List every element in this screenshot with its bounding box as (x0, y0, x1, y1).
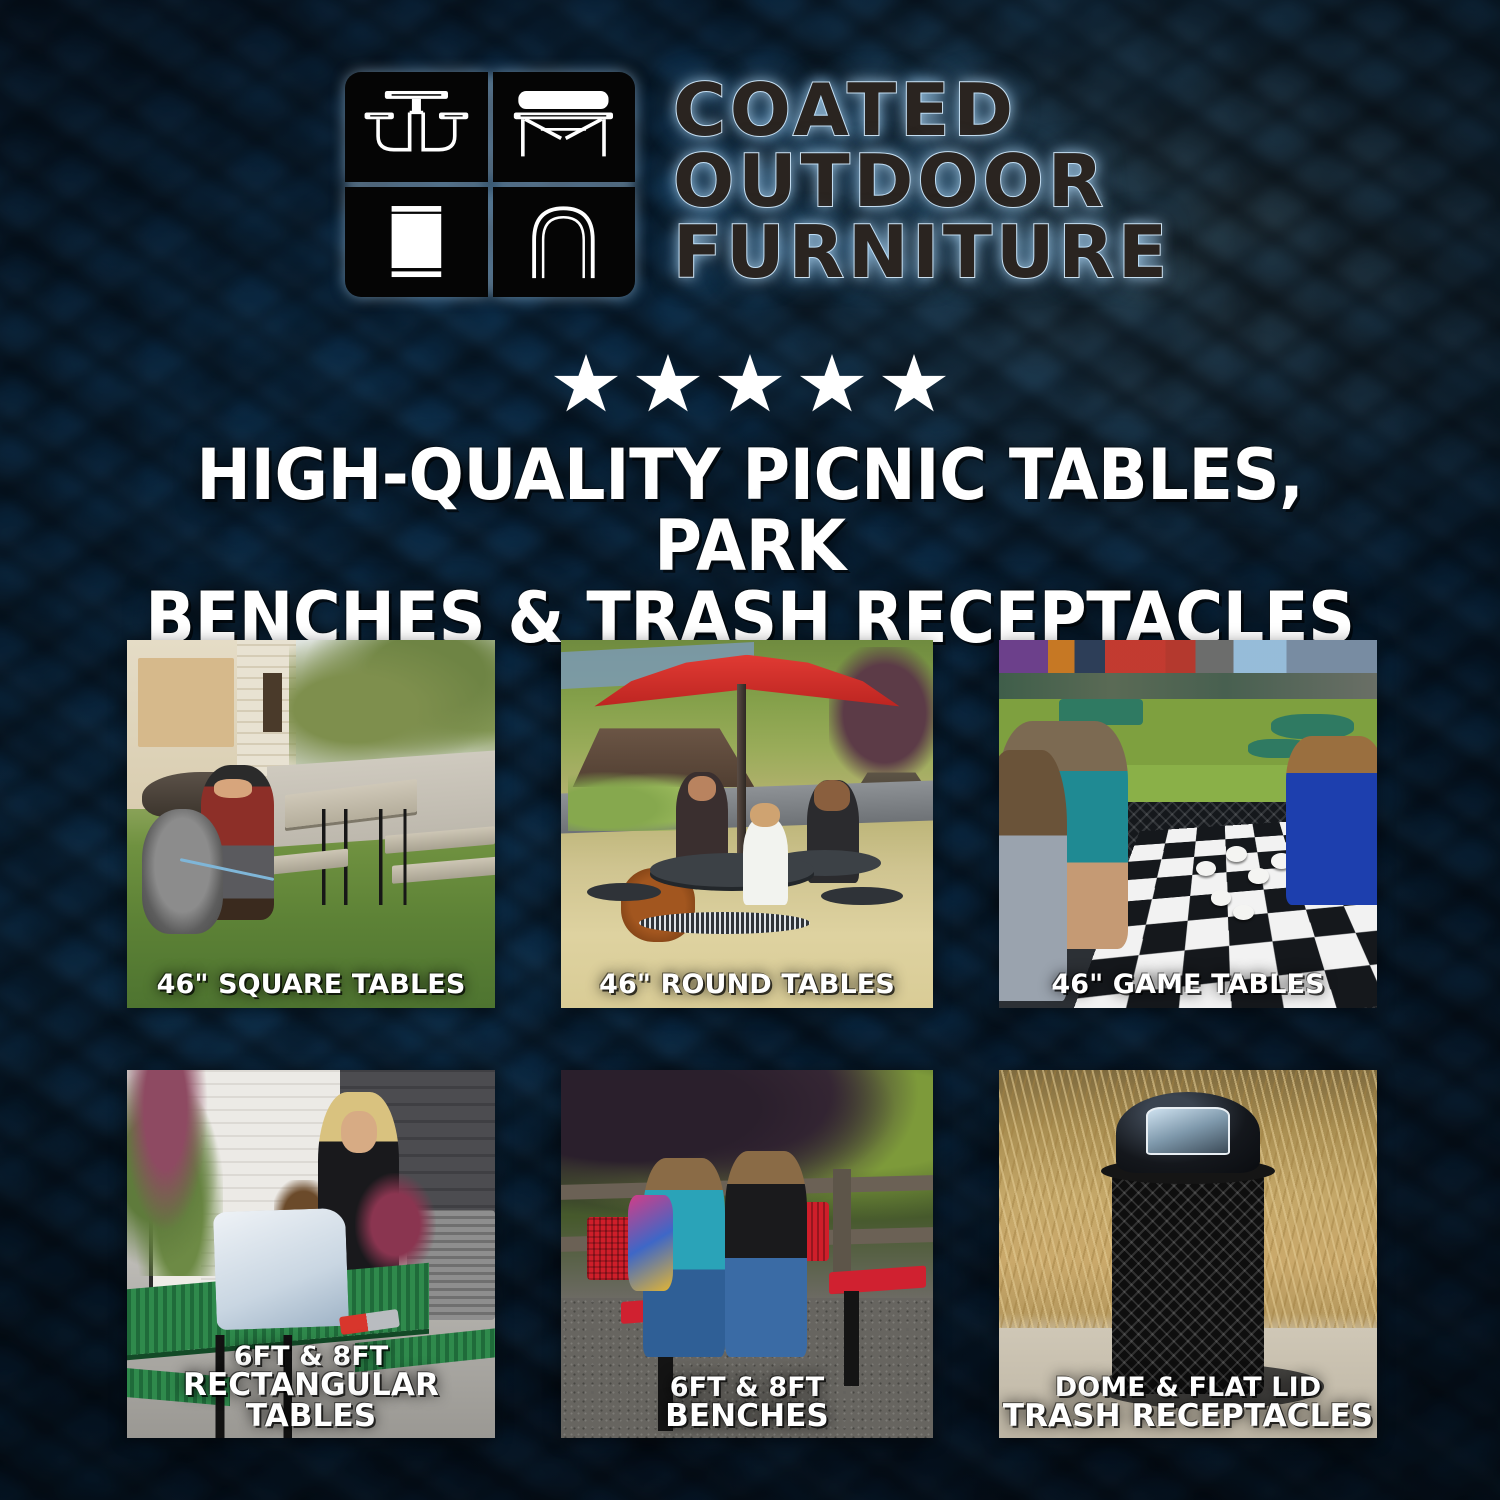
park-bench-icon (493, 72, 636, 182)
promo-banner: COATED OUTDOOR FURNITURE HIGH-QUALITY PI… (0, 0, 1500, 1500)
brand-name: COATED OUTDOOR FURNITURE (673, 72, 1171, 287)
product-grid: 46" SQUARE TABLES 46" ROUND TABLES (127, 640, 1375, 1438)
brand-line-2: OUTDOOR (673, 147, 1171, 216)
product-caption: DOME & FLAT LID TRASH RECEPTACLES (999, 1374, 1377, 1432)
brand-line-1: COATED (673, 76, 1171, 145)
product-caption: 6FT & 8FT RECTANGULAR TABLES (127, 1343, 495, 1432)
product-card-rectangular-tables[interactable]: 6FT & 8FT RECTANGULAR TABLES (127, 1070, 495, 1438)
caption-line-1: 46" SQUARE TABLES (127, 971, 495, 998)
star-icon (800, 354, 864, 416)
brand-logo-lockup: COATED OUTDOOR FURNITURE (345, 72, 1171, 297)
star-icon (636, 354, 700, 416)
product-photo-round-tables (561, 640, 933, 1008)
product-caption: 46" GAME TABLES (999, 971, 1377, 998)
headline-line-1: HIGH-QUALITY PICNIC TABLES, PARK (108, 440, 1391, 583)
trash-receptacle-icon (345, 187, 488, 297)
product-caption: 46" ROUND TABLES (561, 971, 933, 998)
product-card-square-tables[interactable]: 46" SQUARE TABLES (127, 640, 495, 1008)
product-caption: 6FT & 8FT BENCHES (561, 1374, 933, 1432)
page-title: HIGH-QUALITY PICNIC TABLES, PARK BENCHES… (108, 440, 1391, 654)
product-card-trash-receptacles[interactable]: DOME & FLAT LID TRASH RECEPTACLES (999, 1070, 1377, 1438)
caption-line-2: TRASH RECEPTACLES (999, 1401, 1377, 1432)
product-caption: 46" SQUARE TABLES (127, 971, 495, 998)
caption-line-2: RECTANGULAR TABLES (127, 1370, 495, 1432)
caption-line-1: 6FT & 8FT (127, 1343, 495, 1370)
caption-line-1: 46" ROUND TABLES (561, 971, 933, 998)
product-card-round-tables[interactable]: 46" ROUND TABLES (561, 640, 933, 1008)
product-photo-game-tables (999, 640, 1377, 1008)
product-photo-square-tables (127, 640, 495, 1008)
caption-line-2: BENCHES (561, 1401, 933, 1432)
brand-line-3: FURNITURE (673, 218, 1171, 287)
caption-line-1: DOME & FLAT LID (999, 1374, 1377, 1401)
bike-rack-icon (493, 187, 636, 297)
caption-line-1: 6FT & 8FT (561, 1374, 933, 1401)
product-card-game-tables[interactable]: 46" GAME TABLES (999, 640, 1377, 1008)
star-icon (554, 354, 618, 416)
picnic-table-icon (345, 72, 488, 182)
caption-line-1: 46" GAME TABLES (999, 971, 1377, 998)
star-rating (0, 354, 1500, 416)
logo-mark (345, 72, 635, 297)
star-icon (882, 354, 946, 416)
star-icon (718, 354, 782, 416)
product-card-benches[interactable]: 6FT & 8FT BENCHES (561, 1070, 933, 1438)
